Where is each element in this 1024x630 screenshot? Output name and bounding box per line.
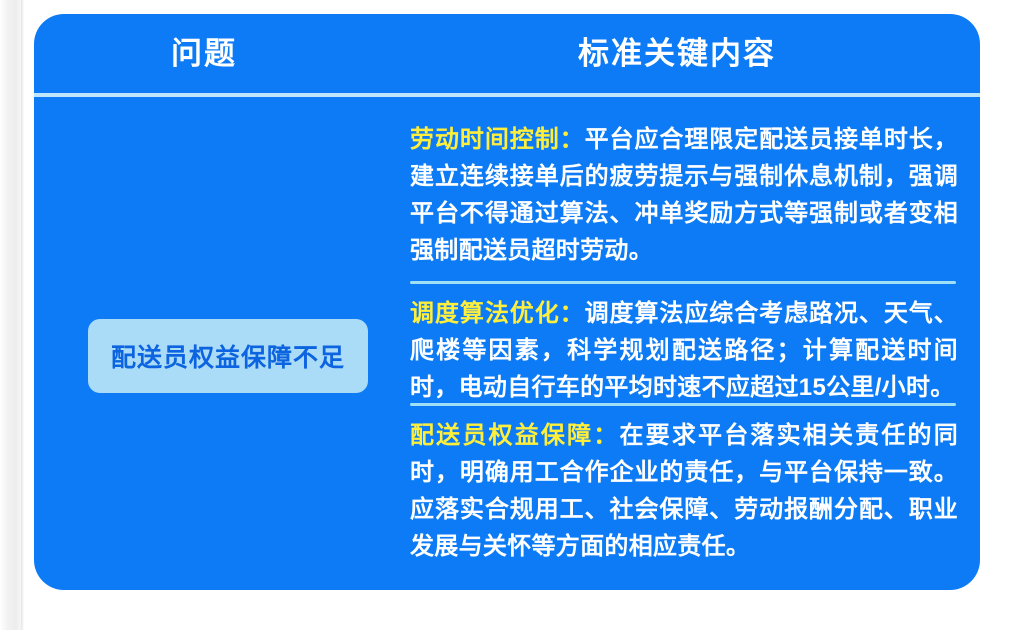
standard-section-3: 配送员权益保障：在要求平台落实相关责任的同时，明确用工合作企业的责任，与平台保持… bbox=[410, 417, 958, 565]
standard-section-1-lead: 劳动时间控制： bbox=[410, 126, 585, 153]
page-gutter-edge bbox=[21, 0, 24, 630]
issue-badge: 配送员权益保障不足 bbox=[88, 319, 368, 393]
card-body: 配送员权益保障不足 劳动时间控制：平台应合理限定配送员接单时长，建立连续接单后的… bbox=[34, 97, 980, 590]
standard-section-2: 调度算法优化：调度算法应综合考虑路况、天气、爬楼等因素，科学规划配送路径；计算配… bbox=[410, 295, 958, 406]
issue-badge-label: 配送员权益保障不足 bbox=[111, 338, 345, 374]
section-divider-1 bbox=[410, 281, 956, 284]
issue-column: 配送员权益保障不足 bbox=[34, 97, 374, 590]
header-title-standard-content: 标准关键内容 bbox=[374, 36, 980, 72]
standard-section-2-lead: 调度算法优化： bbox=[410, 300, 585, 327]
standard-section-3-lead: 配送员权益保障： bbox=[410, 422, 619, 449]
header-title-issue: 问题 bbox=[34, 36, 374, 72]
standards-comparison-card: 问题 标准关键内容 配送员权益保障不足 劳动时间控制：平台应合理限定配送员接单时… bbox=[34, 14, 980, 590]
section-divider-2 bbox=[410, 403, 956, 406]
card-header: 问题 标准关键内容 bbox=[34, 14, 980, 93]
standard-content-column: 劳动时间控制：平台应合理限定配送员接单时长，建立连续接单后的疲劳提示与强制休息机… bbox=[374, 97, 980, 590]
page-gutter bbox=[0, 0, 22, 630]
standard-section-1: 劳动时间控制：平台应合理限定配送员接单时长，建立连续接单后的疲劳提示与强制休息机… bbox=[410, 121, 958, 269]
